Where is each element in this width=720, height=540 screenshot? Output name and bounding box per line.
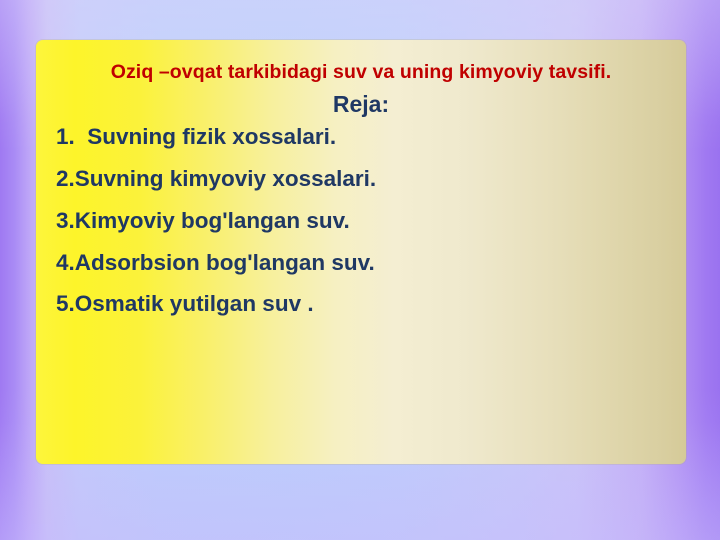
content-panel: Oziq –ovqat tarkibidagi suv va uning kim…: [36, 40, 686, 464]
list-item: 3.Kimyoviy bog'langan suv.: [50, 207, 672, 236]
list-item: 4.Adsorbsion bog'langan suv.: [50, 249, 672, 278]
slide-title: Oziq –ovqat tarkibidagi suv va uning kim…: [50, 60, 672, 84]
plan-list: 1. Suvning fizik xossalari. 2.Suvning ki…: [50, 123, 672, 319]
list-item: 2.Suvning kimyoviy xossalari.: [50, 165, 672, 194]
slide-canvas: Oziq –ovqat tarkibidagi suv va uning kim…: [0, 0, 720, 540]
list-item: 1. Suvning fizik xossalari.: [50, 123, 672, 152]
list-item: 5.Osmatik yutilgan suv .: [50, 290, 672, 319]
plan-heading: Reja:: [50, 90, 672, 119]
